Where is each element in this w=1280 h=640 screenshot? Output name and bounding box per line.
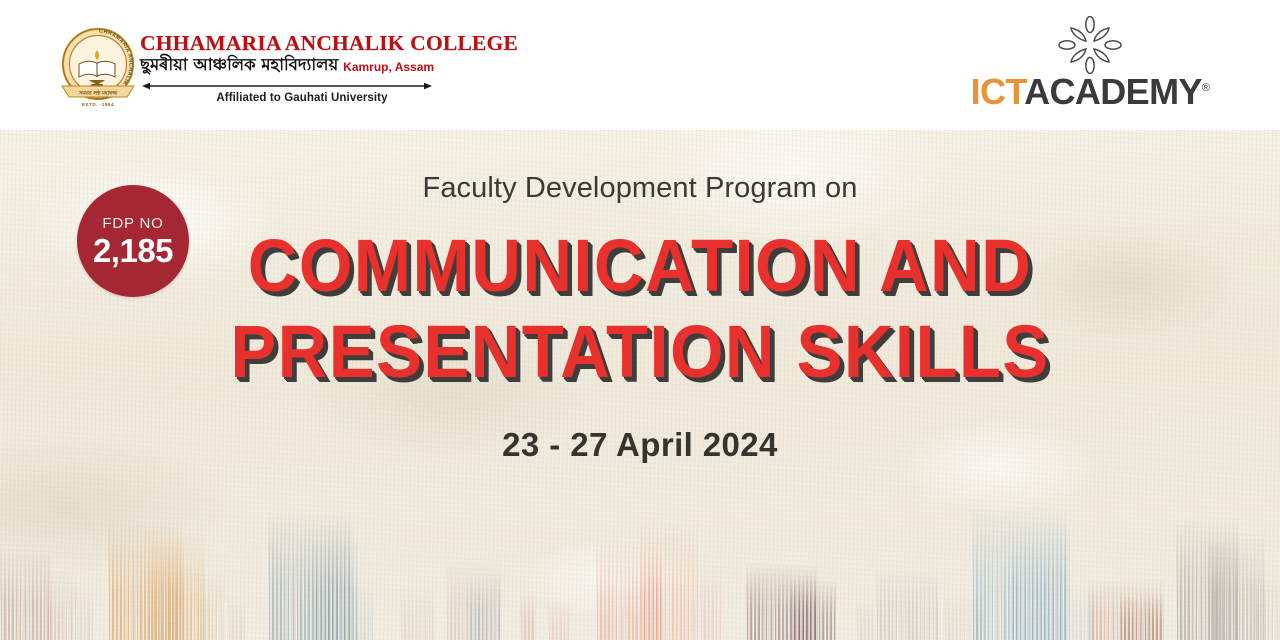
college-affiliation: Affiliated to Gauhati University	[157, 92, 447, 104]
brush-stroke	[520, 590, 536, 640]
brush-stroke-texture	[548, 600, 570, 640]
ict-academy-logo: ICTACADEMY®	[970, 16, 1210, 116]
brush-stroke-texture	[700, 564, 722, 640]
svg-text:সমযত লন্ঠ মহাফল্ম: সমযত লন্ঠ মহাফল্ম	[78, 88, 118, 96]
brush-stroke	[640, 522, 698, 640]
college-location: Kamrup, Assam	[343, 60, 434, 75]
brush-stroke-texture	[520, 590, 536, 640]
brush-stroke	[1120, 592, 1164, 640]
brush-stroke-texture	[876, 566, 938, 640]
brush-stroke-texture	[466, 574, 500, 640]
college-seal-svg: CHHAMARIA ANCHALIK COLLEGE সমযত লন্ঠ মহা…	[52, 20, 144, 112]
ict-word-part2: ACADEMY	[1024, 71, 1202, 112]
brush-stroke	[1012, 520, 1070, 640]
fdp-badge-number: 2,185	[93, 234, 173, 267]
headline-block: Faculty Development Program on COMMUNICA…	[0, 130, 1280, 461]
poster-body: FDP NO 2,185 Faculty Development Program…	[0, 130, 1280, 640]
brush-stroke	[548, 600, 570, 640]
college-logo: CHHAMARIA ANCHALIK COLLEGE সমযত লন্ঠ মহা…	[52, 12, 472, 120]
brush-stroke-texture	[1120, 592, 1164, 640]
brush-stroke	[700, 564, 722, 640]
brush-stroke-texture	[0, 548, 52, 640]
program-pretitle: Faculty Development Program on	[0, 174, 1280, 203]
brush-stroke-texture	[400, 584, 434, 640]
brush-stroke-texture	[228, 594, 246, 640]
fdp-badge-label: FDP NO	[102, 216, 163, 231]
double-arrow-divider-icon	[142, 82, 432, 90]
ict-word-part1: ICT	[971, 71, 1025, 112]
brush-stroke	[1252, 570, 1280, 640]
brush-stroke-texture	[196, 566, 224, 640]
fdp-number-badge: FDP NO 2,185	[77, 185, 189, 297]
brush-stroke	[352, 578, 374, 640]
brush-stroke-texture	[1012, 520, 1070, 640]
brush-stroke-texture	[1252, 570, 1280, 640]
college-seal-icon: CHHAMARIA ANCHALIK COLLEGE সমযত লন্ঠ মহা…	[52, 20, 144, 112]
brush-stroke	[196, 566, 224, 640]
brush-stroke-texture	[46, 570, 76, 640]
brush-stroke	[228, 594, 246, 640]
brush-stroke-texture	[790, 578, 836, 640]
college-name-english: CHHAMARIA ANCHALIK COLLEGE	[140, 32, 472, 55]
banner-header: CHHAMARIA ANCHALIK COLLEGE সমযত লন্ঠ মহা…	[0, 0, 1280, 130]
college-name-block: CHHAMARIA ANCHALIK COLLEGE ছুমৰীয়া আঞ্চ…	[140, 32, 472, 75]
brush-stroke	[790, 578, 836, 640]
program-title-line-1: COMMUNICATION AND	[45, 227, 1235, 305]
brush-stroke-texture	[856, 598, 874, 640]
event-banner: CHHAMARIA ANCHALIK COLLEGE সমযত লন্ঠ মহা…	[0, 0, 1280, 640]
brush-stroke-texture	[76, 582, 94, 640]
grunge-brush-band	[0, 500, 1280, 640]
program-title-line-2: PRESENTATION SKILLS	[45, 313, 1235, 391]
registered-trademark-icon: ®	[1202, 82, 1210, 94]
brush-stroke-texture	[640, 522, 698, 640]
brush-stroke	[0, 548, 52, 640]
ict-academy-wordmark: ICTACADEMY®	[970, 74, 1210, 110]
brush-stroke	[856, 598, 874, 640]
college-name-assamese: ছুমৰীয়া আঞ্চলিক মহাবিদ্যালয়	[140, 56, 338, 75]
brush-stroke	[400, 584, 434, 640]
brush-stroke	[876, 566, 938, 640]
petal-rosette-icon	[1057, 16, 1123, 74]
college-name-assamese-row: ছুমৰীয়া আঞ্চলিক মহাবিদ্যালয় Kamrup, Ass…	[140, 56, 472, 75]
brush-stroke	[466, 574, 500, 640]
brush-stroke	[76, 582, 94, 640]
svg-text:ESTD. -1994: ESTD. -1994	[82, 102, 114, 107]
brush-stroke-texture	[352, 578, 374, 640]
brush-stroke	[46, 570, 76, 640]
program-dates: 23 - 27 April 2024	[0, 428, 1280, 461]
